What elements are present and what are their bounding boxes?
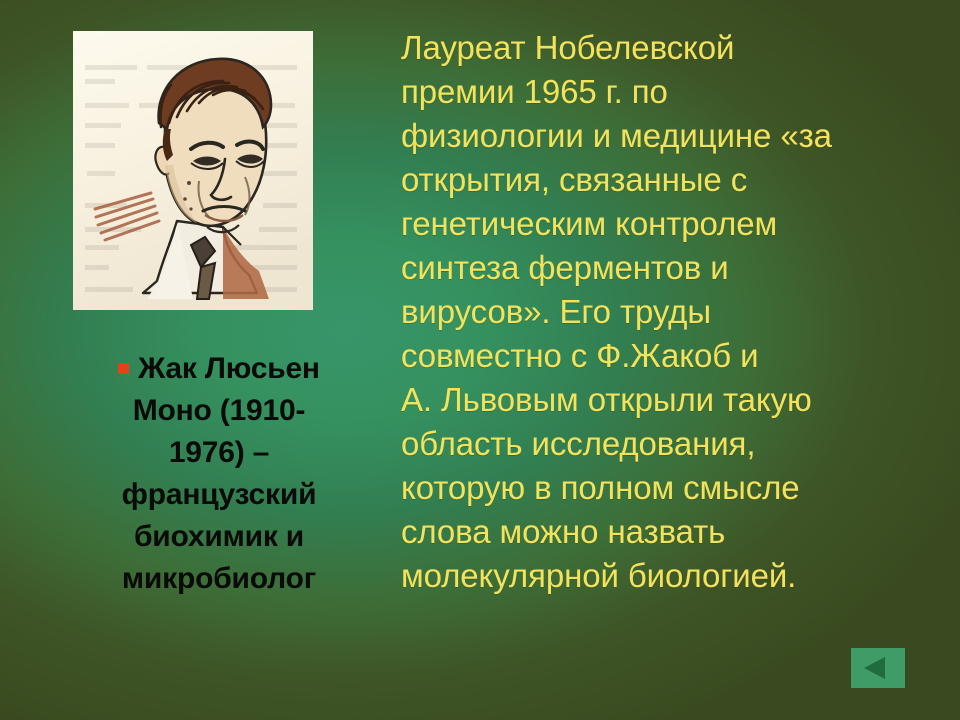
caption-line: Моно (1910- [133,394,306,427]
caption-line: французский [122,478,317,511]
back-button[interactable] [851,648,905,688]
caption-line: микробиолог [122,562,316,595]
body-line: слова можно назвать [401,510,937,554]
body-line: генетическим контролем [401,202,937,246]
body-line: молекулярной биологией. [401,554,937,598]
body-line: синтеза ферментов и [401,246,937,290]
portrait-sketch-icon [73,31,313,310]
body-text-block: Лауреат Нобелевской премии 1965 г. по фи… [401,26,937,598]
body-line: премии 1965 г. по [401,70,937,114]
body-line: физиологии и медицине «за [401,114,937,158]
body-line: вирусов». Его труды [401,290,937,334]
body-line: совместно с Ф.Жакоб и [401,334,937,378]
body-line: которую в полном смысле [401,466,937,510]
body-line: Лауреат Нобелевской [401,26,937,70]
bullet-square-icon [118,363,129,374]
caption-line: Жак Люсьен [138,352,320,385]
body-line: область исследования, [401,422,937,466]
triangle-left-icon [864,657,885,679]
body-line: А. Львовым открыли такую [401,378,937,422]
caption-line: биохимик и [134,520,304,553]
presentation-slide: Жак Люсьен Моно (1910- 1976) – французск… [0,0,960,720]
body-line: открытия, связанные с [401,158,937,202]
caption-line: 1976) – [169,436,269,469]
caption-text-block: Жак Люсьен Моно (1910- 1976) – французск… [66,348,372,600]
portrait-image [73,31,313,310]
